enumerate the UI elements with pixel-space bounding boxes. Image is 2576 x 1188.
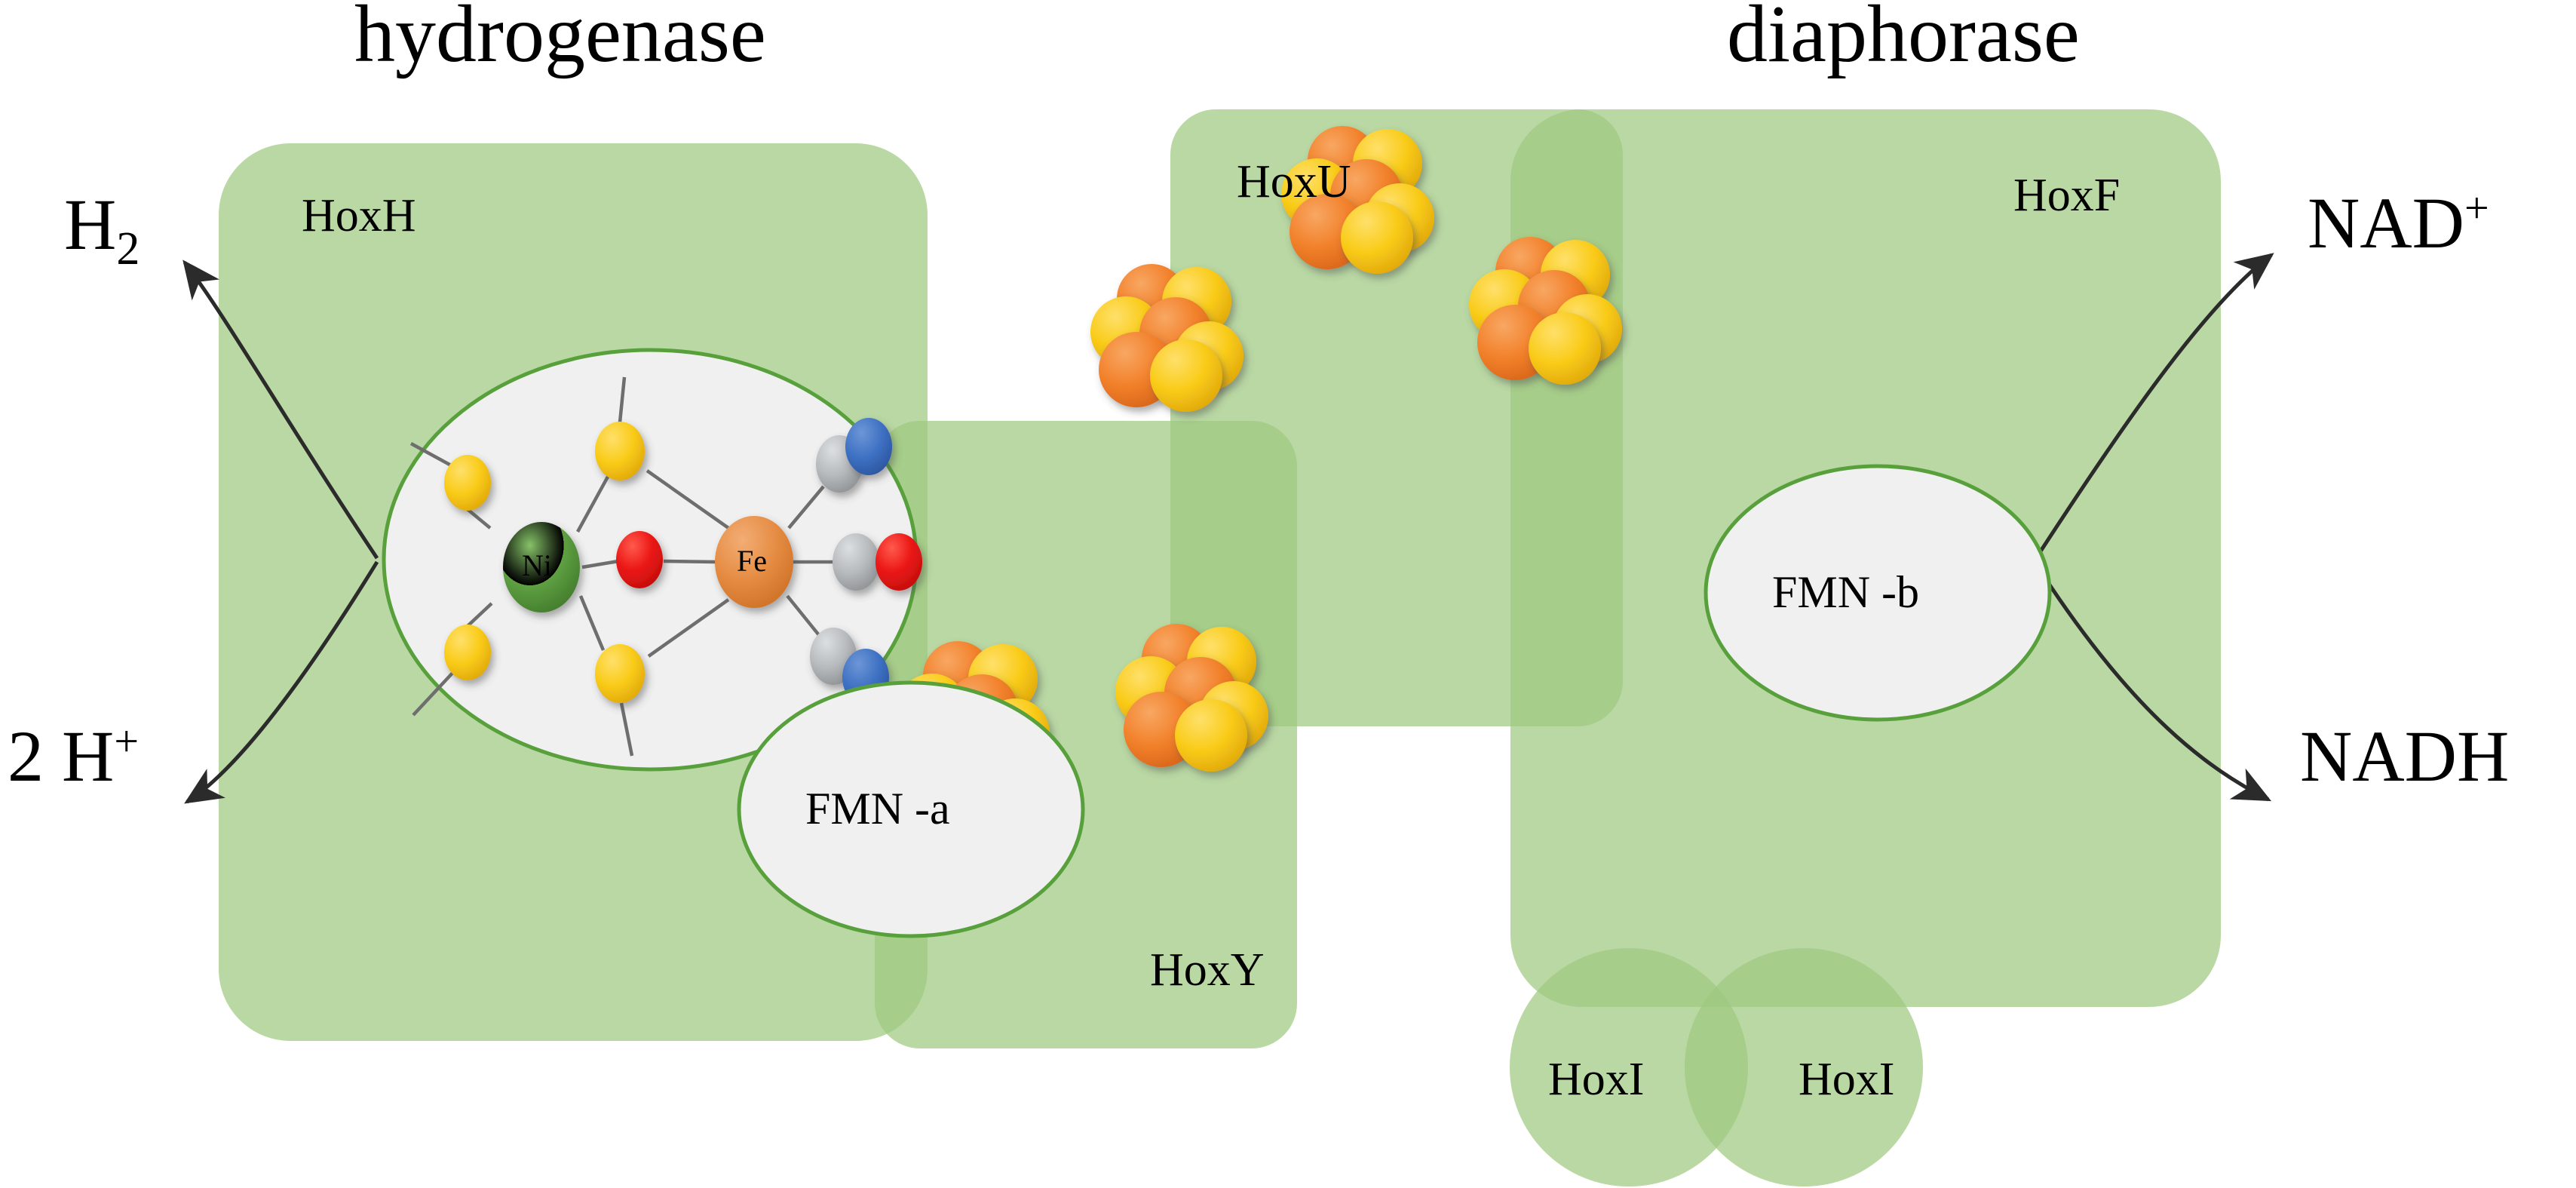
nickel-atom-label: Ni xyxy=(522,551,552,581)
subunit-label-hoxu: HoxU xyxy=(1237,158,1351,205)
sulfur-atom xyxy=(1529,312,1601,385)
reagent-nad-superscript: + xyxy=(2464,183,2489,232)
bridging-oxygen-atom xyxy=(616,531,663,588)
subunit-label-hoxf: HoxF xyxy=(2013,172,2120,219)
iron-atom-label: Fe xyxy=(737,546,767,576)
carbon-atom xyxy=(833,533,879,591)
diagram-canvas: hydrogenase diaphorase HoxH HoxY HoxU Ho… xyxy=(0,0,2576,1188)
oxygen-atom xyxy=(876,533,922,591)
reagent-h2-subscript: 2 xyxy=(116,223,140,275)
reagent-2h-text: 2 H xyxy=(8,716,114,797)
nitrogen-atom xyxy=(845,418,892,475)
fmn-a-label: FMN -a xyxy=(805,786,950,831)
sulfur-atom xyxy=(1341,201,1413,274)
sulfur-atom xyxy=(595,422,645,480)
reagent-2h-plus: 2 H+ xyxy=(8,720,139,793)
reagent-h2: H2 xyxy=(64,189,140,261)
sulfur-atom xyxy=(595,644,645,703)
reagent-h2-text: H xyxy=(64,184,116,265)
subunit-label-hoxh: HoxH xyxy=(302,192,416,239)
subunit-label-hoxi-right: HoxI xyxy=(1799,1056,1894,1103)
reagent-nadh: NADH xyxy=(2300,720,2509,793)
sulfur-atom xyxy=(1175,699,1247,772)
reagent-2h-superscript: + xyxy=(114,717,139,766)
title-diaphorase: diaphorase xyxy=(1727,0,2080,75)
title-hydrogenase: hydrogenase xyxy=(354,0,766,75)
sulfur-atom xyxy=(444,625,491,680)
subunit-label-hoxi-left: HoxI xyxy=(1548,1056,1644,1103)
sulfur-atom xyxy=(444,455,491,511)
reagent-nad-text: NAD xyxy=(2308,183,2464,263)
subunit-label-hoxy: HoxY xyxy=(1150,947,1265,993)
reagent-nad-plus: NAD+ xyxy=(2308,187,2489,259)
reagent-nadh-text: NADH xyxy=(2300,716,2509,797)
sulfur-atom xyxy=(1150,339,1222,412)
fmn-b-label: FMN -b xyxy=(1772,569,1919,615)
